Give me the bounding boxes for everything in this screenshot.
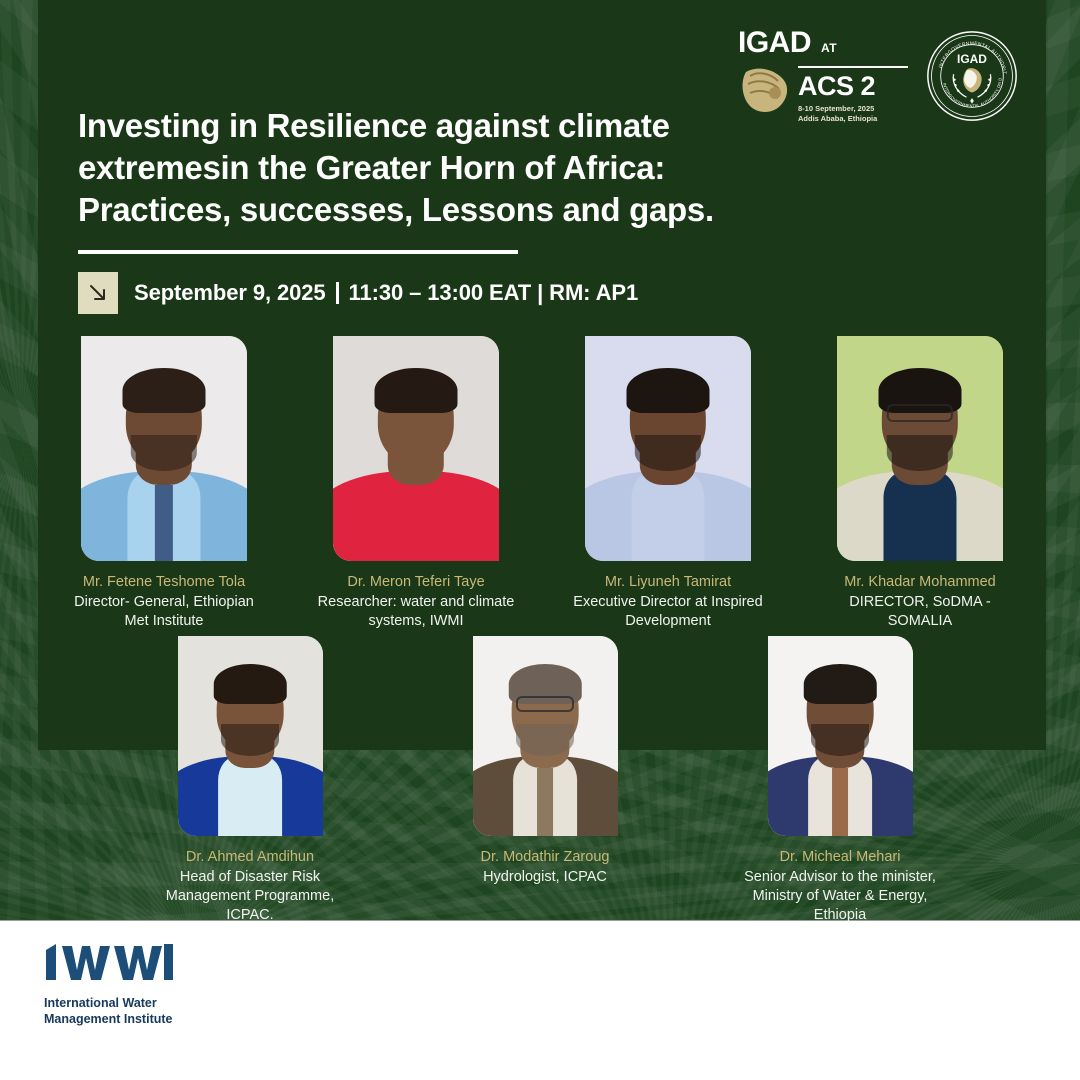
speaker-card: Dr. Ahmed Amdihun Head of Disaster Risk … <box>150 636 350 925</box>
svg-text:IGAD: IGAD <box>957 52 987 66</box>
speaker-card: Mr. Liyuneh Tamirat Executive Director a… <box>568 336 768 631</box>
arrow-down-right-icon <box>78 272 118 314</box>
speakers-row-1: Mr. Fetene Teshome Tola Director- Genera… <box>38 336 1046 631</box>
speaker-photo <box>585 336 751 561</box>
speaker-card: Mr. Khadar Mohammed DIRECTOR, SoDMA - SO… <box>820 336 1020 631</box>
acs-wordmark: ACS 2 <box>798 73 908 100</box>
speaker-name: Mr. Liyuneh Tamirat <box>605 573 731 591</box>
speaker-card: Dr. Meron Teferi Taye Researcher: water … <box>316 336 516 631</box>
event-poster: IGAD AT ACS 2 8-10 September, 2025 Addis <box>0 0 1080 1080</box>
glasses-icon <box>887 404 953 422</box>
iwmi-name-line1: International Water <box>44 995 174 1011</box>
speaker-photo <box>333 336 499 561</box>
speaker-photo <box>768 636 913 836</box>
acs-date-line2: Addis Ababa, Ethiopia <box>798 114 908 124</box>
speaker-photo <box>837 336 1003 561</box>
speaker-name: Dr. Ahmed Amdihun <box>186 848 314 866</box>
title-divider <box>78 250 518 254</box>
speaker-name: Dr. Micheal Mehari <box>780 848 901 866</box>
speaker-card: Dr. Modathir Zaroug Hydrologist, ICPAC <box>445 636 645 925</box>
speakers-row-2: Dr. Ahmed Amdihun Head of Disaster Risk … <box>150 636 940 925</box>
iwmi-name-line2: Management Institute <box>44 1011 174 1027</box>
igad-seal-icon: INTERGOVERNMENTAL AUTHORITY ON DEVELOPME… <box>926 30 1018 122</box>
session-time-room: 11:30 – 13:00 EAT | RM: AP1 <box>349 280 639 306</box>
speaker-role: Researcher: water and climate systems, I… <box>316 593 516 631</box>
speaker-name: Mr. Fetene Teshome Tola <box>83 573 245 591</box>
glasses-icon <box>516 696 574 712</box>
speaker-role: Hydrologist, ICPAC <box>483 868 607 887</box>
speaker-photo <box>178 636 323 836</box>
speaker-role: Executive Director at Inspired Developme… <box>568 593 768 631</box>
header-logos: IGAD AT ACS 2 8-10 September, 2025 Addis <box>738 28 1018 124</box>
speaker-role: Director- General, Ethiopian Met Institu… <box>64 593 264 631</box>
session-date: September 9, 2025 <box>134 280 326 306</box>
date-separator <box>336 282 339 304</box>
iwmi-wordmark-icon <box>44 940 174 984</box>
at-label: AT <box>821 41 837 55</box>
iwmi-logo: International Water Management Institute <box>44 940 174 1028</box>
page-title: Investing in Resilience against climate … <box>78 105 778 232</box>
session-datetime: September 9, 2025 11:30 – 13:00 EAT | RM… <box>78 272 638 314</box>
speaker-photo <box>81 336 247 561</box>
speaker-name: Mr. Khadar Mohammed <box>844 573 996 591</box>
igad-wordmark: IGAD <box>738 28 811 58</box>
speaker-card: Mr. Fetene Teshome Tola Director- Genera… <box>64 336 264 631</box>
speaker-role: Senior Advisor to the minister, Ministry… <box>740 868 940 925</box>
speaker-card: Dr. Micheal Mehari Senior Advisor to the… <box>740 636 940 925</box>
speaker-role: Head of Disaster Risk Management Program… <box>150 868 350 925</box>
speaker-name: Dr. Modathir Zaroug <box>481 848 610 866</box>
speaker-role: DIRECTOR, SoDMA - SOMALIA <box>820 593 1020 631</box>
acs-date-line1: 8-10 September, 2025 <box>798 104 908 114</box>
speaker-photo <box>473 636 618 836</box>
speaker-name: Dr. Meron Teferi Taye <box>347 573 484 591</box>
